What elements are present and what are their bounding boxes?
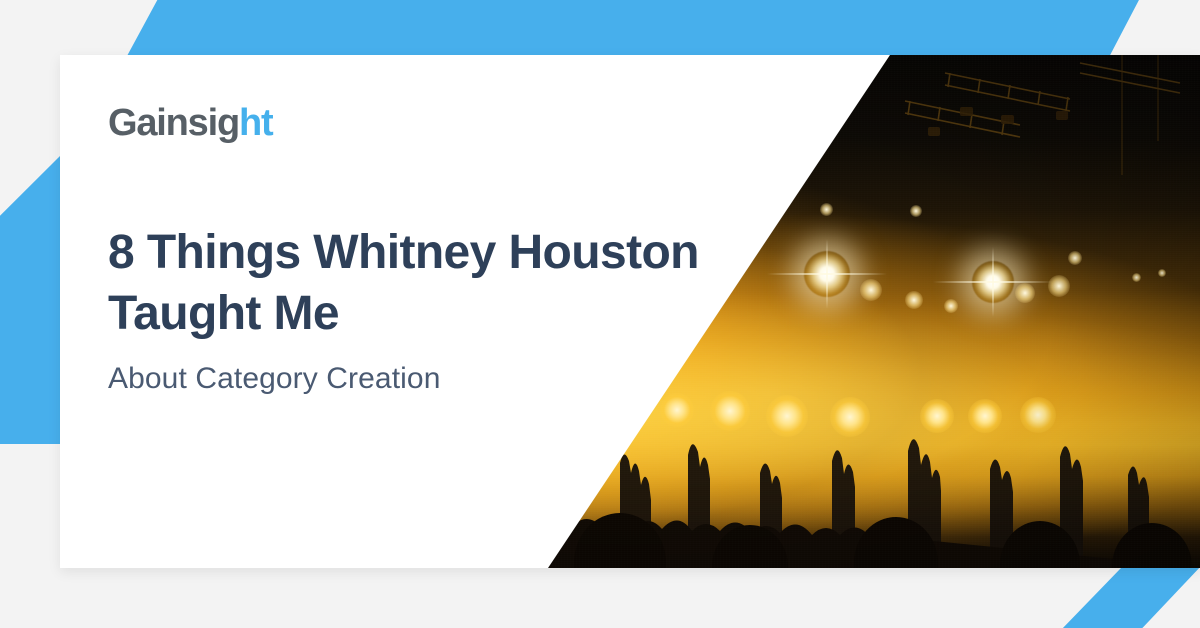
blue-parallelogram-bottom-right-icon: [1060, 565, 1200, 628]
social-card-canvas: Gainsight 8 Things Whitney Houston Taugh…: [0, 0, 1200, 628]
logo-text-light: ht: [239, 102, 272, 144]
blue-parallelogram-top-icon: [110, 0, 1140, 57]
page-title: 8 Things Whitney Houston Taught Me: [108, 223, 748, 345]
gainsight-logo[interactable]: Gainsight: [108, 104, 272, 142]
content-card: Gainsight 8 Things Whitney Houston Taugh…: [60, 55, 1200, 568]
logo-text-dark: Gainsig: [108, 102, 239, 144]
blue-parallelogram-left-icon: [0, 154, 62, 444]
page-subtitle: About Category Creation: [108, 360, 748, 398]
